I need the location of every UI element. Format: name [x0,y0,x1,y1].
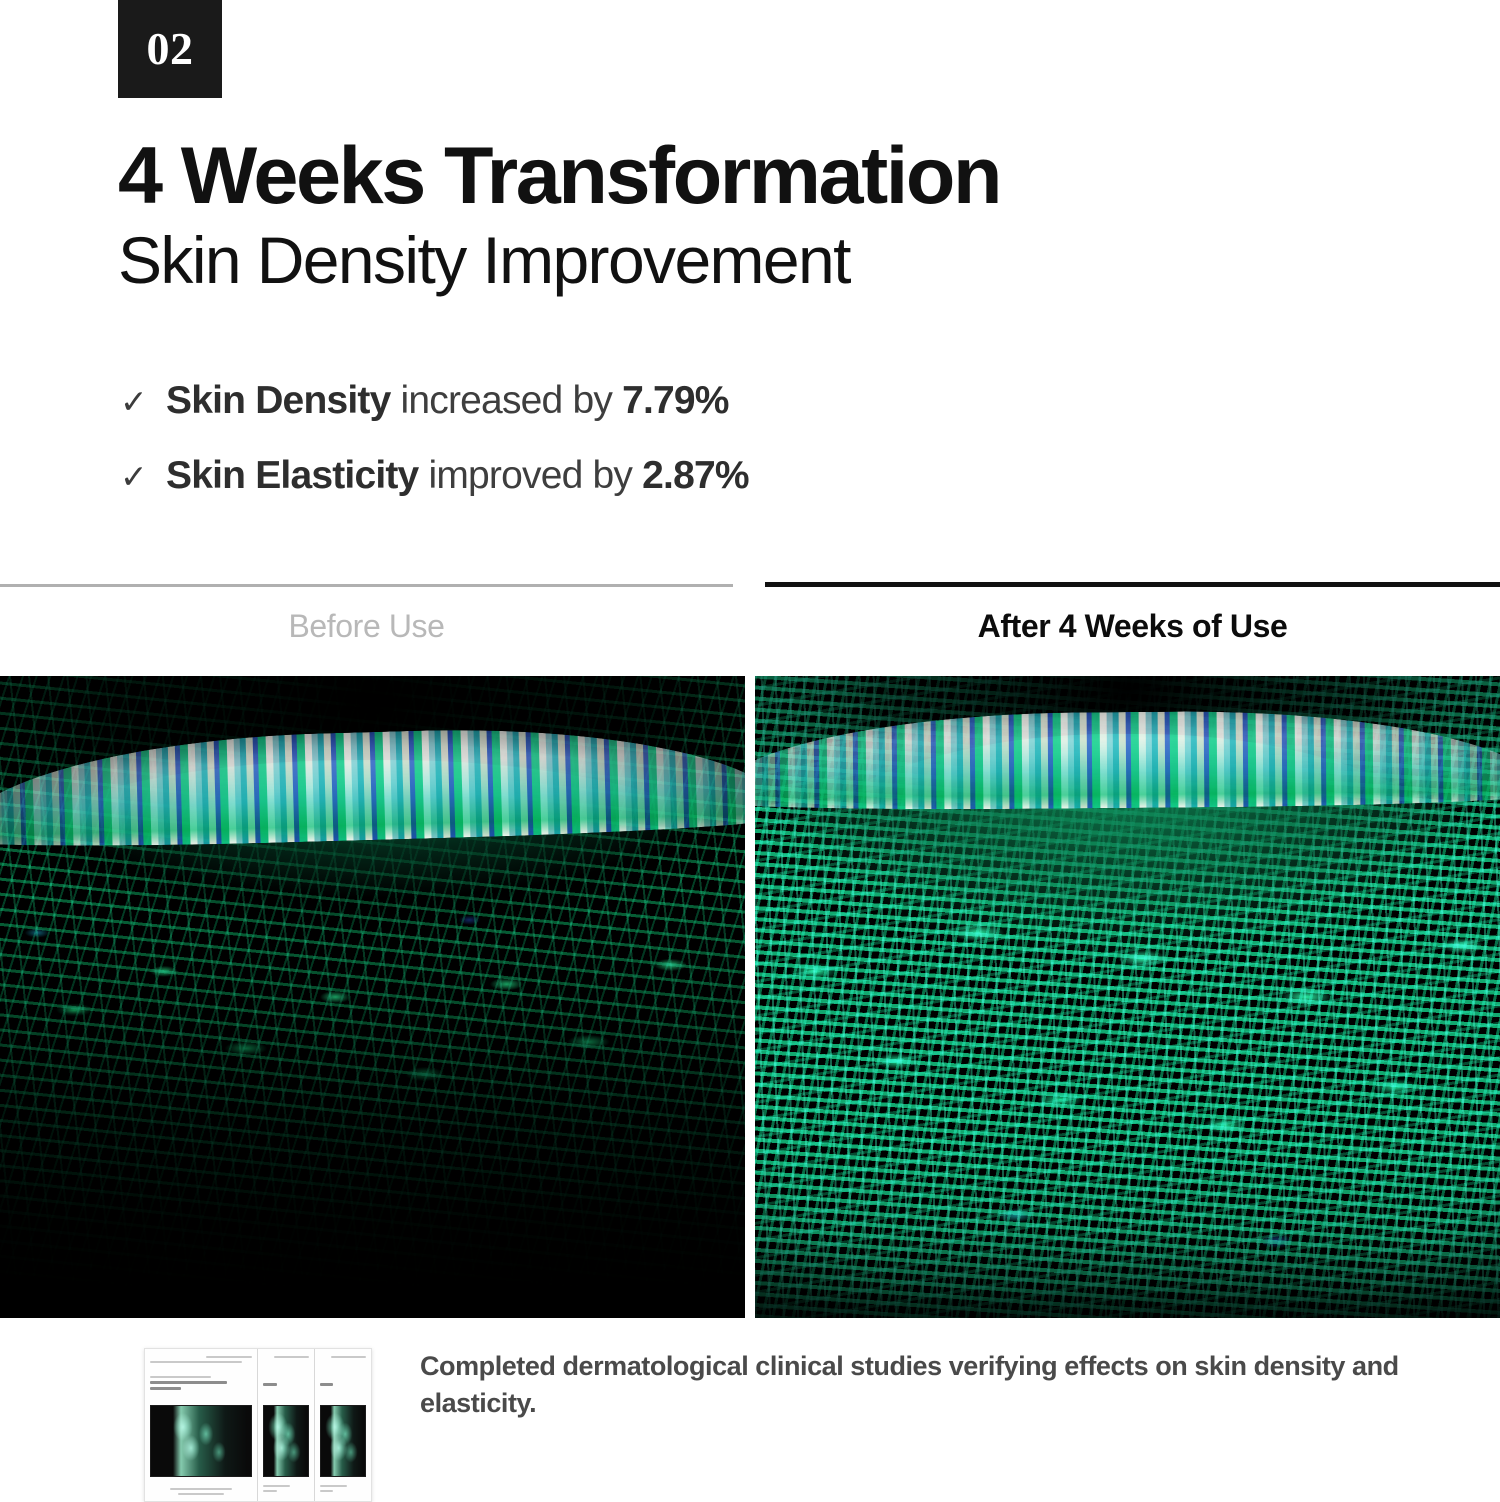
list-item: ✓ Skin Elasticity improved by 2.87% [120,455,1220,498]
thumbnail-text-line [150,1376,211,1378]
benefit-verb: improved by [418,454,642,497]
benefit-value: 2.87% [642,454,749,497]
after-divider [765,582,1500,587]
before-label: Before Use [0,608,733,645]
benefit-list: ✓ Skin Density increased by 7.79% ✓ Skin… [120,380,1220,530]
thumbnail-text-line [150,1361,242,1363]
check-icon: ✓ [120,460,166,493]
benefit-verb: increased by [390,379,622,422]
thumbnail-footer [150,1488,252,1495]
thumbnail-text-line [274,1356,308,1358]
thumbnail-text-line [170,1488,231,1490]
thumbnail-column [145,1349,258,1501]
thumbnail-text-line [320,1490,334,1492]
benefit-value: 7.79% [622,379,729,422]
benefit-text: Skin Density increased by 7.79% [166,380,729,423]
thumbnail-footer [263,1485,309,1495]
thumbnail-footer [320,1485,367,1495]
clinical-study-thumbnail [144,1348,372,1502]
step-number-badge: 02 [118,0,222,98]
benefit-metric: Skin Density [166,379,390,422]
thumbnail-text-line [263,1485,290,1487]
thumbnail-text-line [263,1383,277,1386]
page-title: 4 Weeks Transformation [118,134,1398,218]
thumbnail-column [315,1349,372,1501]
check-icon: ✓ [120,385,166,418]
thumbnail-text-line [206,1356,252,1358]
heading-block: 4 Weeks Transformation Skin Density Impr… [118,134,1398,298]
thumbnail-text-line [150,1381,227,1384]
thumbnail-scan-image [150,1405,252,1477]
before-divider [0,584,733,587]
after-label: After 4 Weeks of Use [765,608,1500,645]
benefit-metric: Skin Elasticity [166,454,418,497]
thumbnail-text-line [178,1493,224,1495]
thumbnail-scan-image [263,1405,309,1477]
thumbnail-text-line [331,1356,366,1358]
after-scan-image [755,676,1500,1318]
page-subtitle: Skin Density Improvement [118,224,1398,298]
step-number-text: 02 [147,26,194,72]
thumbnail-scan-image [320,1405,367,1477]
before-scan-image [0,676,745,1318]
thumbnail-column [258,1349,315,1501]
slide-root: 02 4 Weeks Transformation Skin Density I… [0,0,1500,1500]
list-item: ✓ Skin Density increased by 7.79% [120,380,1220,423]
thumbnail-text-line [150,1387,181,1390]
thumbnail-text-line [320,1485,348,1487]
thumbnail-text-line [320,1383,334,1386]
thumbnail-text-line [263,1490,277,1492]
study-caption: Completed dermatological clinical studie… [420,1348,1420,1423]
benefit-text: Skin Elasticity improved by 2.87% [166,455,749,498]
